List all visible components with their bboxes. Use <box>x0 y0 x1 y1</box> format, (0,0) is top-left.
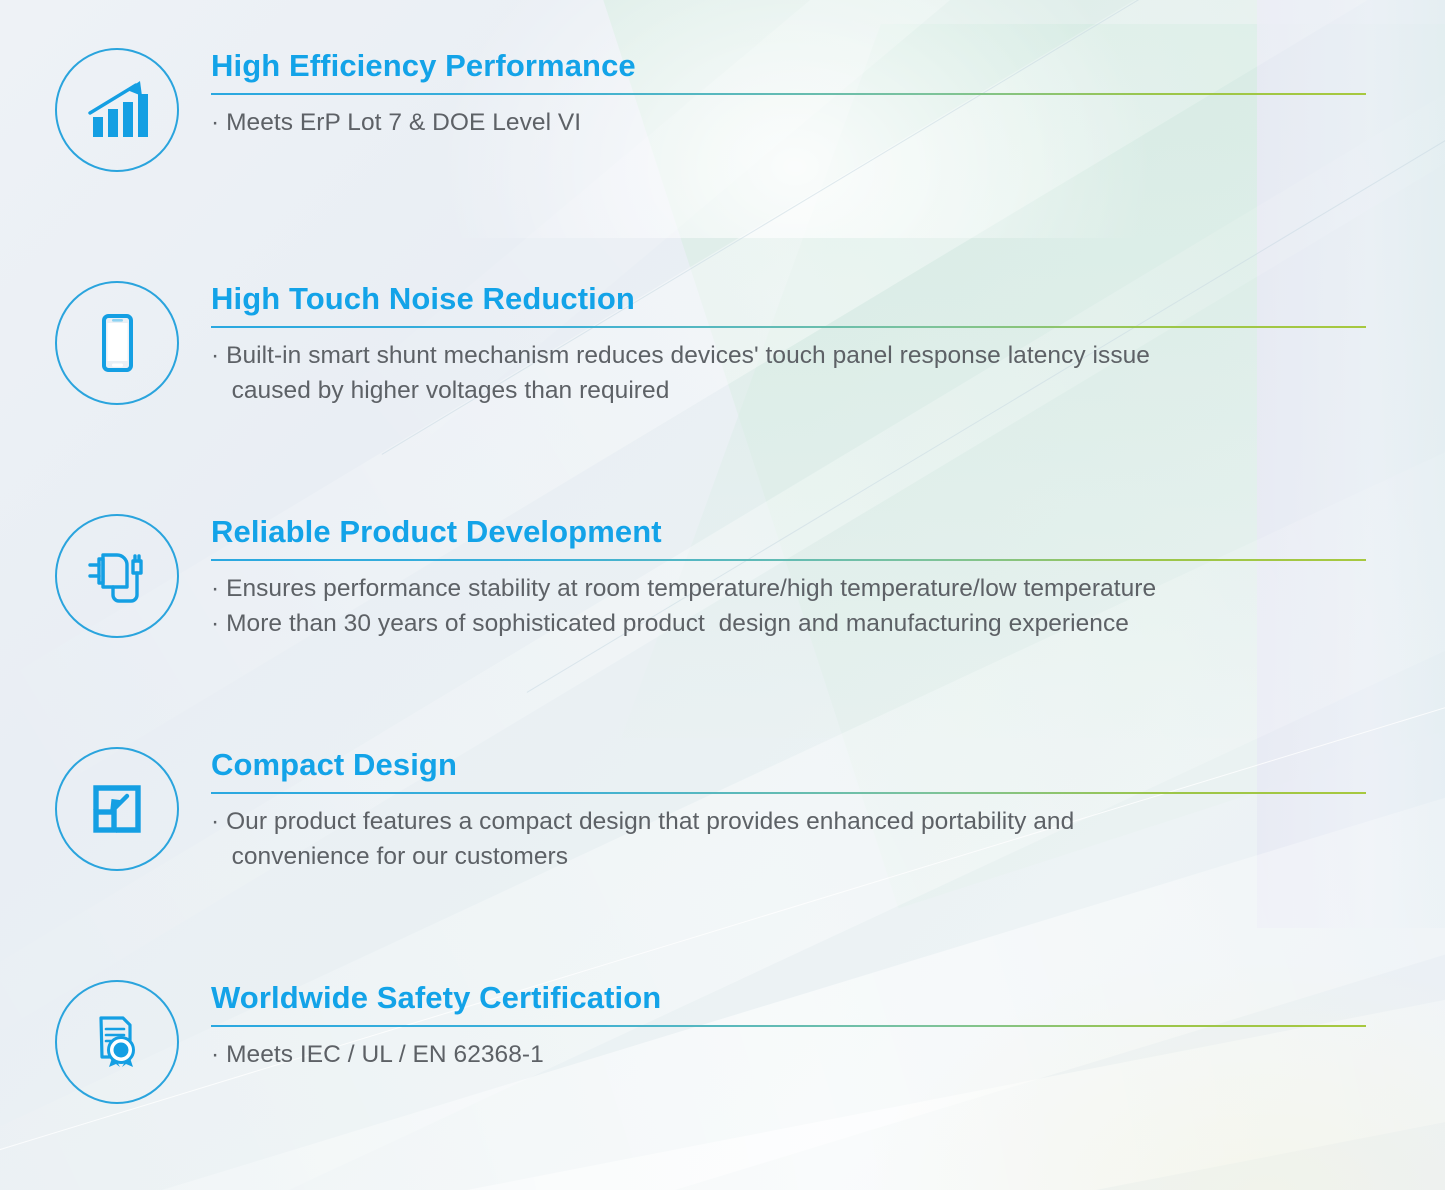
feature-content: High Touch Noise Reduction · Built-in sm… <box>211 281 1367 409</box>
feature-bullets: · Meets IEC / UL / EN 62368-1 <box>211 1038 1367 1073</box>
feature-bullets: · Meets ErP Lot 7 & DOE Level VI <box>211 106 1367 141</box>
feature-divider <box>211 326 1366 329</box>
feature-title: High Touch Noise Reduction <box>211 281 1367 317</box>
feature-bullets: · Our product features a compact design … <box>211 805 1367 875</box>
feature-content: High Efficiency Performance · Meets ErP … <box>211 48 1367 141</box>
feature-divider <box>211 559 1366 562</box>
power-adapter-icon <box>55 514 179 638</box>
feature-title: Worldwide Safety Certification <box>211 980 1367 1016</box>
feature-bullet: · Built-in smart shunt mechanism reduces… <box>211 339 1367 409</box>
smartphone-icon <box>55 281 179 405</box>
feature-bullet: · Meets IEC / UL / EN 62368-1 <box>211 1038 1367 1073</box>
feature-divider <box>211 93 1366 96</box>
feature-divider <box>211 792 1366 795</box>
certificate-seal-icon <box>55 980 179 1104</box>
feature-icon-wrapper <box>55 747 179 871</box>
feature-divider <box>211 1025 1366 1028</box>
feature-bullets: · Built-in smart shunt mechanism reduces… <box>211 339 1367 409</box>
feature-icon-wrapper <box>55 281 179 405</box>
feature-bullets: · Ensures performance stability at room … <box>211 572 1367 642</box>
feature-bullet: · Meets ErP Lot 7 & DOE Level VI <box>211 106 1367 141</box>
feature-content: Worldwide Safety Certification · Meets I… <box>211 980 1367 1073</box>
feature-icon-wrapper <box>55 980 179 1104</box>
feature-content: Compact Design · Our product features a … <box>211 747 1367 875</box>
feature-title: Reliable Product Development <box>211 514 1367 550</box>
feature-icon-wrapper <box>55 48 179 172</box>
feature-title: High Efficiency Performance <box>211 48 1367 84</box>
feature-icon-wrapper <box>55 514 179 638</box>
feature-content: Reliable Product Development · Ensures p… <box>211 514 1367 642</box>
bar-chart-growth-icon <box>55 48 179 172</box>
feature-bullet: · More than 30 years of sophisticated pr… <box>211 607 1367 642</box>
feature-bullet: · Our product features a compact design … <box>211 805 1367 875</box>
feature-title: Compact Design <box>211 747 1367 783</box>
compact-resize-icon <box>55 747 179 871</box>
feature-bullet: · Ensures performance stability at room … <box>211 572 1367 607</box>
